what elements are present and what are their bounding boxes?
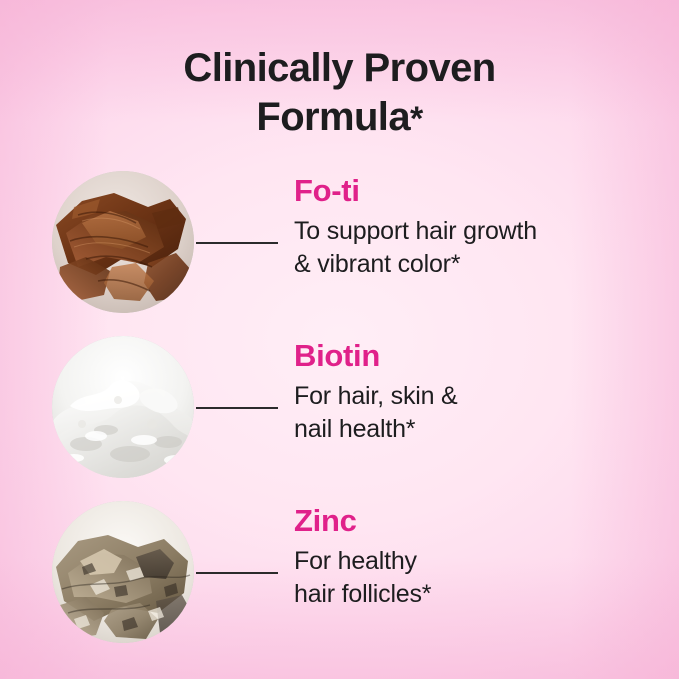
ingredient-desc-zinc-line-1: For healthy — [294, 545, 639, 578]
zinc-mineral-photo — [52, 501, 194, 643]
headline-line-2: Formula — [256, 95, 410, 139]
ingredient-desc-foti-line-1: To support hair growth — [294, 215, 639, 248]
ingredient-text-biotin: Biotin For hair, skin & nail health* — [294, 338, 654, 446]
ingredient-row-foti: Fo-ti To support hair growth & vibrant c… — [0, 165, 679, 325]
ingredient-desc-foti-line-2: & vibrant color* — [294, 248, 639, 281]
connector-line-foti — [196, 242, 278, 244]
ingredient-row-biotin: Biotin For hair, skin & nail health* — [0, 330, 679, 490]
ingredient-name-zinc: Zinc — [294, 503, 654, 539]
headline-asterisk: * — [410, 100, 423, 138]
ingredient-name-foti: Fo-ti — [294, 173, 654, 209]
page-title: Clinically Proven Formula* — [0, 44, 679, 144]
ingredient-text-foti: Fo-ti To support hair growth & vibrant c… — [294, 173, 654, 281]
ingredient-desc-biotin-line-1: For hair, skin & — [294, 380, 639, 413]
connector-line-zinc — [196, 572, 278, 574]
connector-line-biotin — [196, 407, 278, 409]
headline-line-1: Clinically Proven — [183, 46, 495, 90]
fo-ti-root-photo — [52, 171, 194, 313]
ingredient-desc-biotin-line-2: nail health* — [294, 413, 639, 446]
ingredient-name-biotin: Biotin — [294, 338, 654, 374]
product-infographic: Clinically Proven Formula* — [0, 0, 679, 679]
ingredient-desc-zinc-line-2: hair follicles* — [294, 578, 639, 611]
biotin-powder-photo — [52, 336, 194, 478]
ingredient-text-zinc: Zinc For healthy hair follicles* — [294, 503, 654, 611]
ingredient-row-zinc: Zinc For healthy hair follicles* — [0, 495, 679, 655]
